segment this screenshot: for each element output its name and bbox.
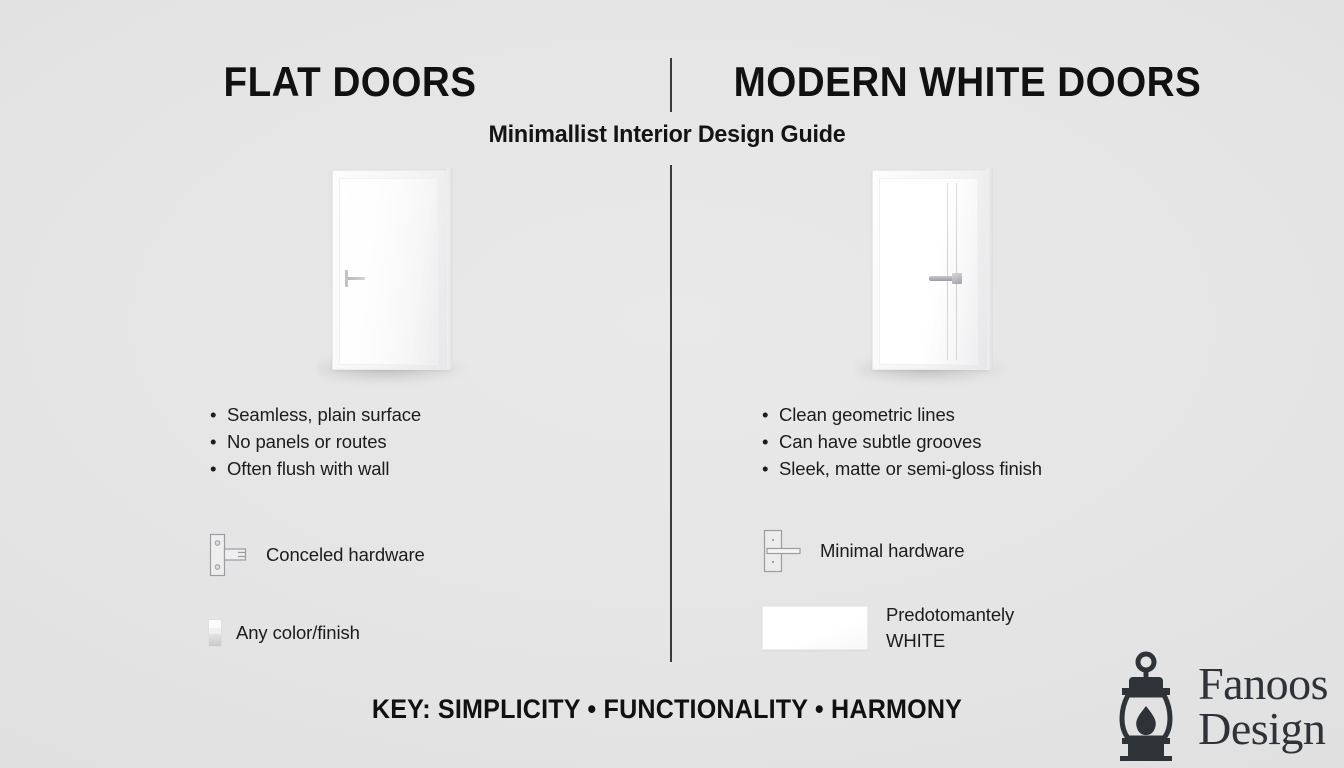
hardware-label-left: Conceled hardware [266,542,425,568]
modern-white-door-image [872,170,990,370]
column-modern-white-doors: Clean geometric lines Can have subtle gr… [700,160,1200,654]
brand-name: Fanoos Design [1198,661,1328,751]
color-swatch-strip-icon [208,619,222,647]
door-frame [872,170,990,370]
center-divider-top [670,58,672,112]
door-frame [332,170,450,370]
color-label-line2: WHITE [886,628,1014,654]
door-handle-icon [208,532,248,578]
feature-bullet-list-right: Clean geometric lines Can have subtle gr… [700,401,1200,482]
hardware-label-right: Minimal hardware [820,538,964,564]
list-item: Clean geometric lines [762,401,1200,428]
brand-name-line2: Design [1198,706,1328,751]
feature-bullet-list-left: Seamless, plain surface No panels or rou… [150,401,650,482]
door-leaf [339,178,438,365]
door-groove-line [956,183,957,360]
color-feature-right: Predotomantely WHITE [700,602,1200,654]
lantern-icon [1100,650,1192,762]
column-flat-doors: Seamless, plain surface No panels or rou… [150,160,650,647]
center-divider-bottom [670,165,672,662]
door-lever-icon [762,528,802,574]
page-title-left: FLAT DOORS [148,58,553,106]
color-feature-left: Any color/finish [150,619,650,647]
color-label-left: Any color/finish [236,620,360,646]
list-item: No panels or routes [210,428,650,455]
door-leaf [879,178,978,365]
door-illustration-stage-right [700,160,1200,395]
white-swatch-icon [762,606,868,650]
list-item: Often flush with wall [210,455,650,482]
list-item: Can have subtle grooves [762,428,1200,455]
hardware-feature-left: Conceled hardware [150,532,650,578]
door-lever-icon [929,276,953,281]
flat-door-image [332,170,450,370]
color-label-line1: Predotomantely [886,602,1014,628]
brand-logo: Fanoos Design [1100,650,1328,762]
hardware-feature-right: Minimal hardware [700,528,1200,574]
page-subtitle: Minimallist Interior Design Guide [20,121,1314,149]
door-groove-line [947,183,948,360]
door-illustration-stage-left [150,160,650,395]
brand-name-line1: Fanoos [1198,661,1328,706]
door-handle-icon [347,277,365,280]
list-item: Sleek, matte or semi-gloss finish [762,455,1200,482]
color-label-right: Predotomantely WHITE [886,602,1014,654]
page-title-right: MODERN WHITE DOORS [734,58,1139,106]
list-item: Seamless, plain surface [210,401,650,428]
